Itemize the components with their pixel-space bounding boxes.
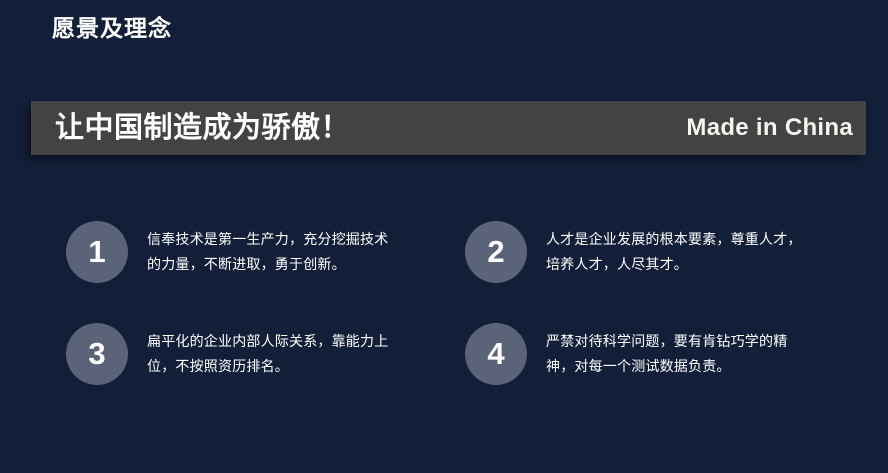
item-number-badge: 1 — [66, 221, 128, 283]
item-number-badge: 4 — [465, 323, 527, 385]
item-description: 严禁对待科学问题，要有肯钻巧学的精神，对每一个测试数据负责。 — [546, 329, 808, 379]
slide-root: 愿景及理念 让中国制造成为骄傲！ Made in China 1 信奉技术是第一… — [0, 0, 888, 473]
values-list: 1 信奉技术是第一生产力，充分挖掘技术的力量，不断进取，勇于创新。 2 人才是企… — [66, 221, 856, 425]
list-item: 3 扁平化的企业内部人际关系，靠能力上位，不按照资历排名。 — [66, 323, 461, 425]
banner-headline: 让中国制造成为骄傲！ — [55, 111, 350, 145]
item-description: 扁平化的企业内部人际关系，靠能力上位，不按照资历排名。 — [147, 329, 399, 379]
vision-banner: 让中国制造成为骄傲！ Made in China — [31, 101, 866, 155]
item-description: 人才是企业发展的根本要素，尊重人才，培养人才，人尽其才。 — [546, 227, 808, 277]
item-description: 信奉技术是第一生产力，充分挖掘技术的力量，不断进取，勇于创新。 — [147, 227, 399, 277]
list-item: 2 人才是企业发展的根本要素，尊重人才，培养人才，人尽其才。 — [461, 221, 856, 323]
banner-tagline: Made in China — [686, 113, 853, 143]
item-number-badge: 3 — [66, 323, 128, 385]
item-number-badge: 2 — [465, 221, 527, 283]
list-item: 1 信奉技术是第一生产力，充分挖掘技术的力量，不断进取，勇于创新。 — [66, 221, 461, 323]
list-item: 4 严禁对待科学问题，要有肯钻巧学的精神，对每一个测试数据负责。 — [461, 323, 856, 425]
page-title: 愿景及理念 — [52, 12, 172, 44]
